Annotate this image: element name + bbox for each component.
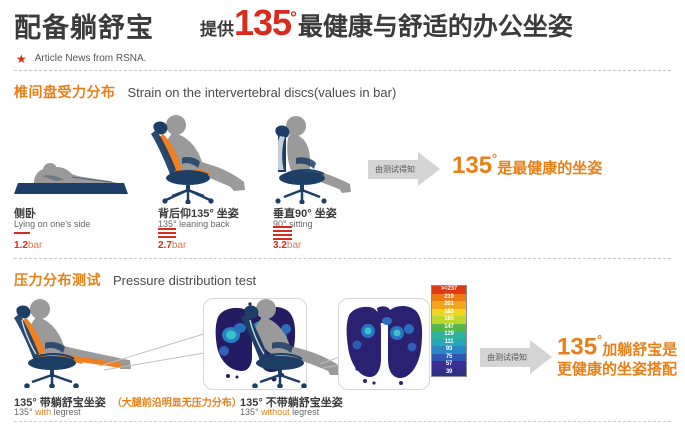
pressure-map-without-legrest	[338, 298, 430, 390]
poster-root: 配备躺舒宝 提供135°最健康与舒适的办公坐姿 ★Article News fr…	[0, 0, 685, 430]
leader-line-left	[98, 326, 213, 371]
legend-stop: 111	[432, 339, 466, 347]
section2-arrow-label: 由测试得知	[482, 348, 532, 367]
item1-label-en: Lying on one's side	[14, 219, 90, 229]
item2-value-unit: bar	[172, 240, 186, 251]
headline-angle: 135	[234, 2, 291, 43]
item1-value-number: 1.2	[14, 240, 28, 251]
legend-stop: 93	[432, 346, 466, 354]
pitem2-label-en-prefix: 135°	[240, 407, 261, 417]
section2-arrow: 由测试得知	[480, 340, 554, 374]
pitem1-label-en: 135° with legrest	[14, 407, 81, 417]
pitem1-label-en-prefix: 135°	[14, 407, 35, 417]
figure-chair-reclined-135	[148, 112, 254, 204]
pitem2-label-en-suffix: legrest	[290, 407, 320, 417]
section2-heading: 压力分布测试Pressure distribution test	[14, 270, 256, 290]
section2-conclusion-text1: 加躺舒宝是	[602, 341, 677, 358]
item2-value: 2.7bar	[158, 240, 186, 251]
section1-conclusion: 135°是最健康的坐姿	[452, 152, 602, 180]
page-title: 配备躺舒宝	[14, 6, 154, 45]
section2-title-cn: 压力分布测试	[14, 272, 101, 288]
item1-value-unit: bar	[28, 240, 42, 251]
item2-value-number: 2.7	[158, 240, 172, 251]
legend-stop: 165	[432, 316, 466, 324]
section2-title-en: Pressure distribution test	[113, 273, 256, 288]
headline-degree-symbol: °	[290, 8, 297, 27]
item3-value-unit: bar	[287, 240, 301, 251]
legend-stop: 39	[432, 369, 466, 377]
section1-title-en: Strain on the intervertebral discs(value…	[128, 85, 397, 100]
figure-person-lying-on-side	[12, 150, 132, 200]
byline-text: Article News from RSNA.	[35, 53, 147, 64]
legend-stop: 75	[432, 354, 466, 362]
pitem1-label-en-em: with	[35, 407, 51, 417]
section2-conclusion-text2: 更健康的坐姿搭配	[557, 360, 677, 380]
item1-value: 1.2bar	[14, 240, 42, 251]
pitem2-label-en-em: without	[261, 407, 290, 417]
figure-chair-upright-90	[262, 112, 362, 204]
arrow-head-icon	[530, 340, 552, 374]
section1-conclusion-text: 是最健康的坐姿	[497, 160, 602, 177]
legend-stop: >=237	[432, 286, 466, 294]
legend-stop: 219	[432, 294, 466, 302]
section1-title-cn: 椎间盘受力分布	[14, 84, 116, 100]
poster-header: 配备躺舒宝 提供135°最健康与舒适的办公坐姿 ★Article News fr…	[0, 0, 685, 72]
section1-conclusion-degree: °	[492, 151, 497, 166]
legend-stop: 147	[432, 324, 466, 332]
section1-arrow-label: 由测试得知	[370, 160, 420, 179]
section1-divider	[14, 258, 671, 259]
legend-stop: 129	[432, 331, 466, 339]
arrow-head-icon	[418, 152, 440, 186]
legend-stop: 201	[432, 301, 466, 309]
section2-conclusion-line1: 135°加躺舒宝是	[557, 334, 677, 360]
headline-group: 提供135°最健康与舒适的办公坐姿	[200, 0, 573, 46]
section1-arrow: 由测试得知	[368, 152, 442, 186]
section2-conclusion: 135°加躺舒宝是 更健康的坐姿搭配	[557, 334, 677, 380]
legend-stop: 57	[432, 361, 466, 369]
byline: ★Article News from RSNA.	[16, 50, 146, 68]
section2-conclusion-degree: °	[597, 332, 602, 347]
item3-value: 3.2bar	[273, 240, 301, 251]
star-icon: ★	[16, 52, 27, 66]
item2-bar-stack	[158, 228, 176, 240]
legend-stop: 183	[432, 309, 466, 317]
pressure-scale-legend: >=237 219 201 183 165 147 129 111 93 75 …	[431, 285, 467, 377]
footer-divider	[14, 421, 671, 422]
section2-conclusion-angle: 135	[557, 333, 597, 360]
item1-bar-stack	[14, 232, 30, 236]
pitem1-label-note: （大腿前沿明显无压力分布）	[112, 398, 242, 409]
pitem1-label-en-suffix: legrest	[51, 407, 81, 417]
header-divider	[14, 70, 671, 71]
section1-conclusion-angle: 135	[452, 152, 492, 179]
headline-tail: 最健康与舒适的办公坐姿	[298, 13, 573, 41]
section1-heading: 椎间盘受力分布Strain on the intervertebral disc…	[14, 82, 396, 102]
item3-value-number: 3.2	[273, 240, 287, 251]
pitem2-label-en: 135° without legrest	[240, 407, 319, 417]
headline-lead: 提供	[200, 20, 234, 39]
